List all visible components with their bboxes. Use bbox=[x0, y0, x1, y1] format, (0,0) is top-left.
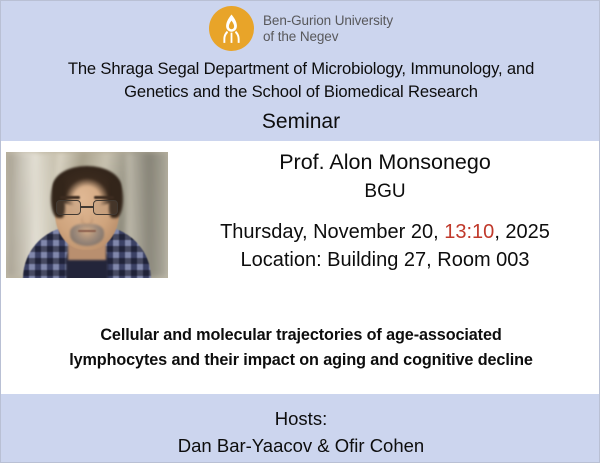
photo-glasses-lens-right bbox=[93, 200, 118, 215]
speaker-details: Prof. Alon Monsonego BGU Thursday, Novem… bbox=[173, 147, 597, 274]
university-logo: Ben-Gurion University of the Negev bbox=[1, 6, 600, 51]
talk-title-line-1: Cellular and molecular trajectories of a… bbox=[13, 323, 589, 348]
hosts-section: Hosts: Dan Bar-Yaacov & Ofir Cohen bbox=[1, 405, 600, 459]
talk-title-line-2: lymphocytes and their impact on aging an… bbox=[13, 348, 589, 373]
photo-eyebrow-right bbox=[94, 196, 114, 199]
event-date-prefix: Thursday, November 20, bbox=[220, 221, 444, 243]
event-type-heading: Seminar bbox=[1, 109, 600, 135]
photo-glasses-bridge bbox=[81, 206, 93, 208]
talk-title: Cellular and molecular trajectories of a… bbox=[13, 323, 589, 373]
university-name-line2: of the Negev bbox=[263, 29, 393, 45]
photo-glasses bbox=[56, 200, 118, 215]
speaker-name: Prof. Alon Monsonego bbox=[173, 147, 597, 177]
hosts-label: Hosts: bbox=[1, 405, 600, 432]
university-wordmark: Ben-Gurion University of the Negev bbox=[263, 13, 393, 44]
event-time: 13:10 bbox=[444, 221, 494, 243]
department-line-2: Genetics and the School of Biomedical Re… bbox=[1, 80, 600, 103]
bgu-flame-icon bbox=[209, 6, 254, 51]
speaker-photo bbox=[6, 152, 168, 278]
event-location: Location: Building 27, Room 003 bbox=[173, 246, 597, 274]
photo-eyebrow-left bbox=[60, 196, 80, 199]
seminar-poster: Ben-Gurion University of the Negev The S… bbox=[0, 0, 600, 463]
department-line-1: The Shraga Segal Department of Microbiol… bbox=[1, 57, 600, 80]
event-date-suffix: , 2025 bbox=[494, 221, 550, 243]
speaker-affiliation: BGU bbox=[173, 177, 597, 207]
photo-beard bbox=[70, 224, 104, 246]
hosts-names: Dan Bar-Yaacov & Ofir Cohen bbox=[1, 432, 600, 459]
department-title: The Shraga Segal Department of Microbiol… bbox=[1, 57, 600, 103]
university-name-line1: Ben-Gurion University bbox=[263, 13, 393, 29]
event-datetime: Thursday, November 20, 13:10, 2025 bbox=[173, 218, 597, 246]
photo-glasses-lens-left bbox=[56, 200, 81, 215]
